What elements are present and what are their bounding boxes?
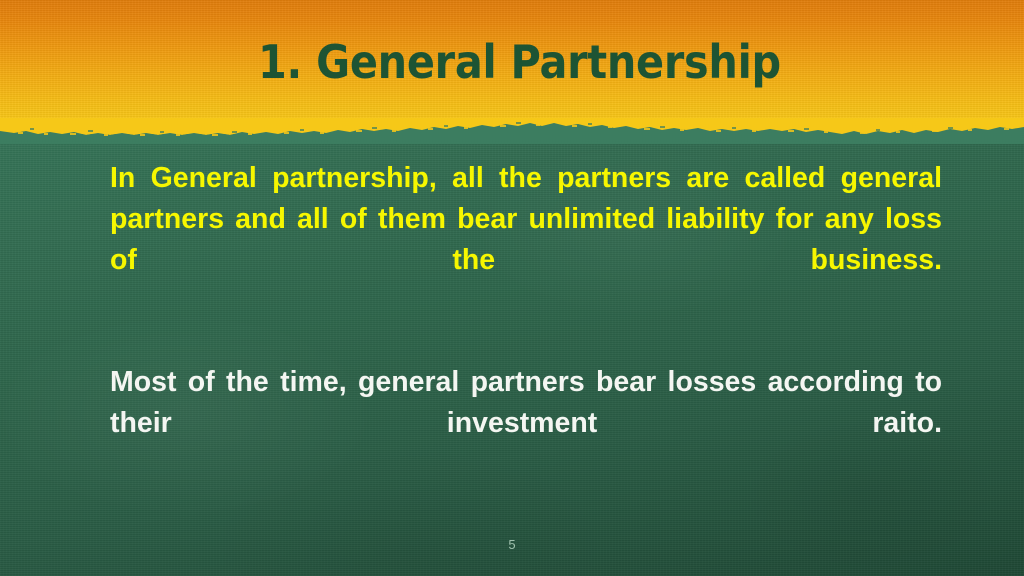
page-number: 5 [0,537,1024,553]
slide-title: 1. General Partnership [258,36,924,88]
paragraph-highlight: In General partnership, all the partners… [110,158,942,322]
paragraph-spacer [110,322,942,362]
paragraph-plain: Most of the time, general partners bear … [110,362,942,485]
slide-content: In General partnership, all the partners… [110,158,942,485]
presentation-slide: 1. General Partnership In General partne… [0,0,1024,576]
